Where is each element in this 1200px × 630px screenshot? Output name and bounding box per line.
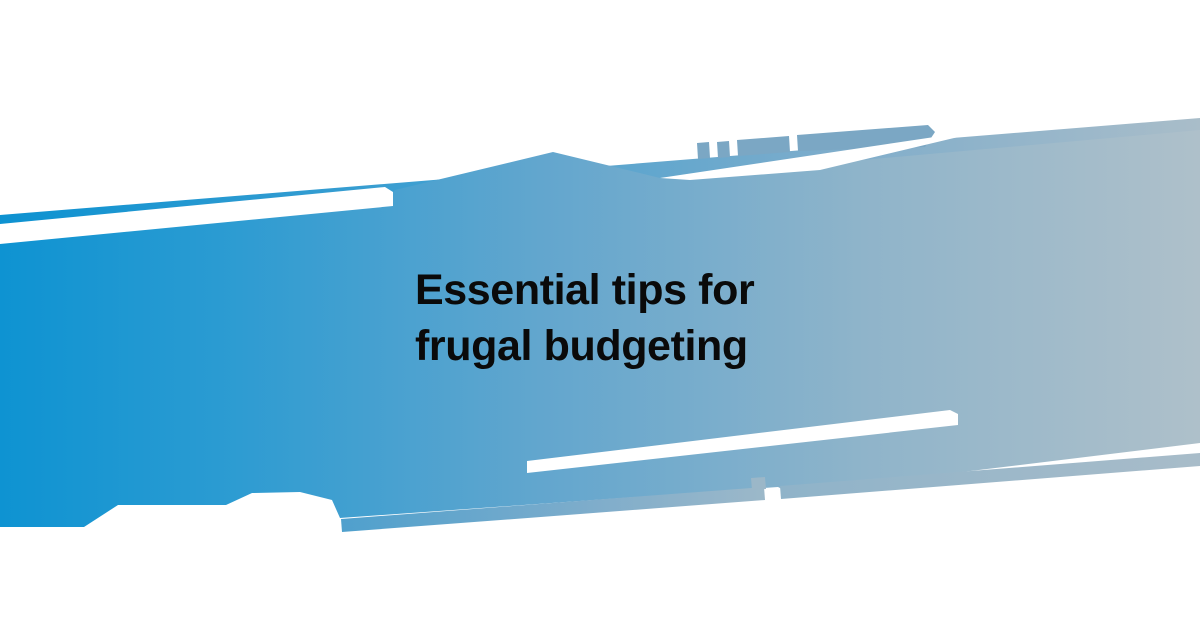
bottom-right-bars [751,477,766,490]
blue-bar-bottom-right-dash [751,477,766,490]
dash-mark-small-2 [717,141,730,158]
dash-mark-small-1 [697,142,710,159]
page-title: Essential tips for frugal budgeting [415,263,835,375]
banner-canvas: Essential tips for frugal budgeting [0,0,1200,630]
